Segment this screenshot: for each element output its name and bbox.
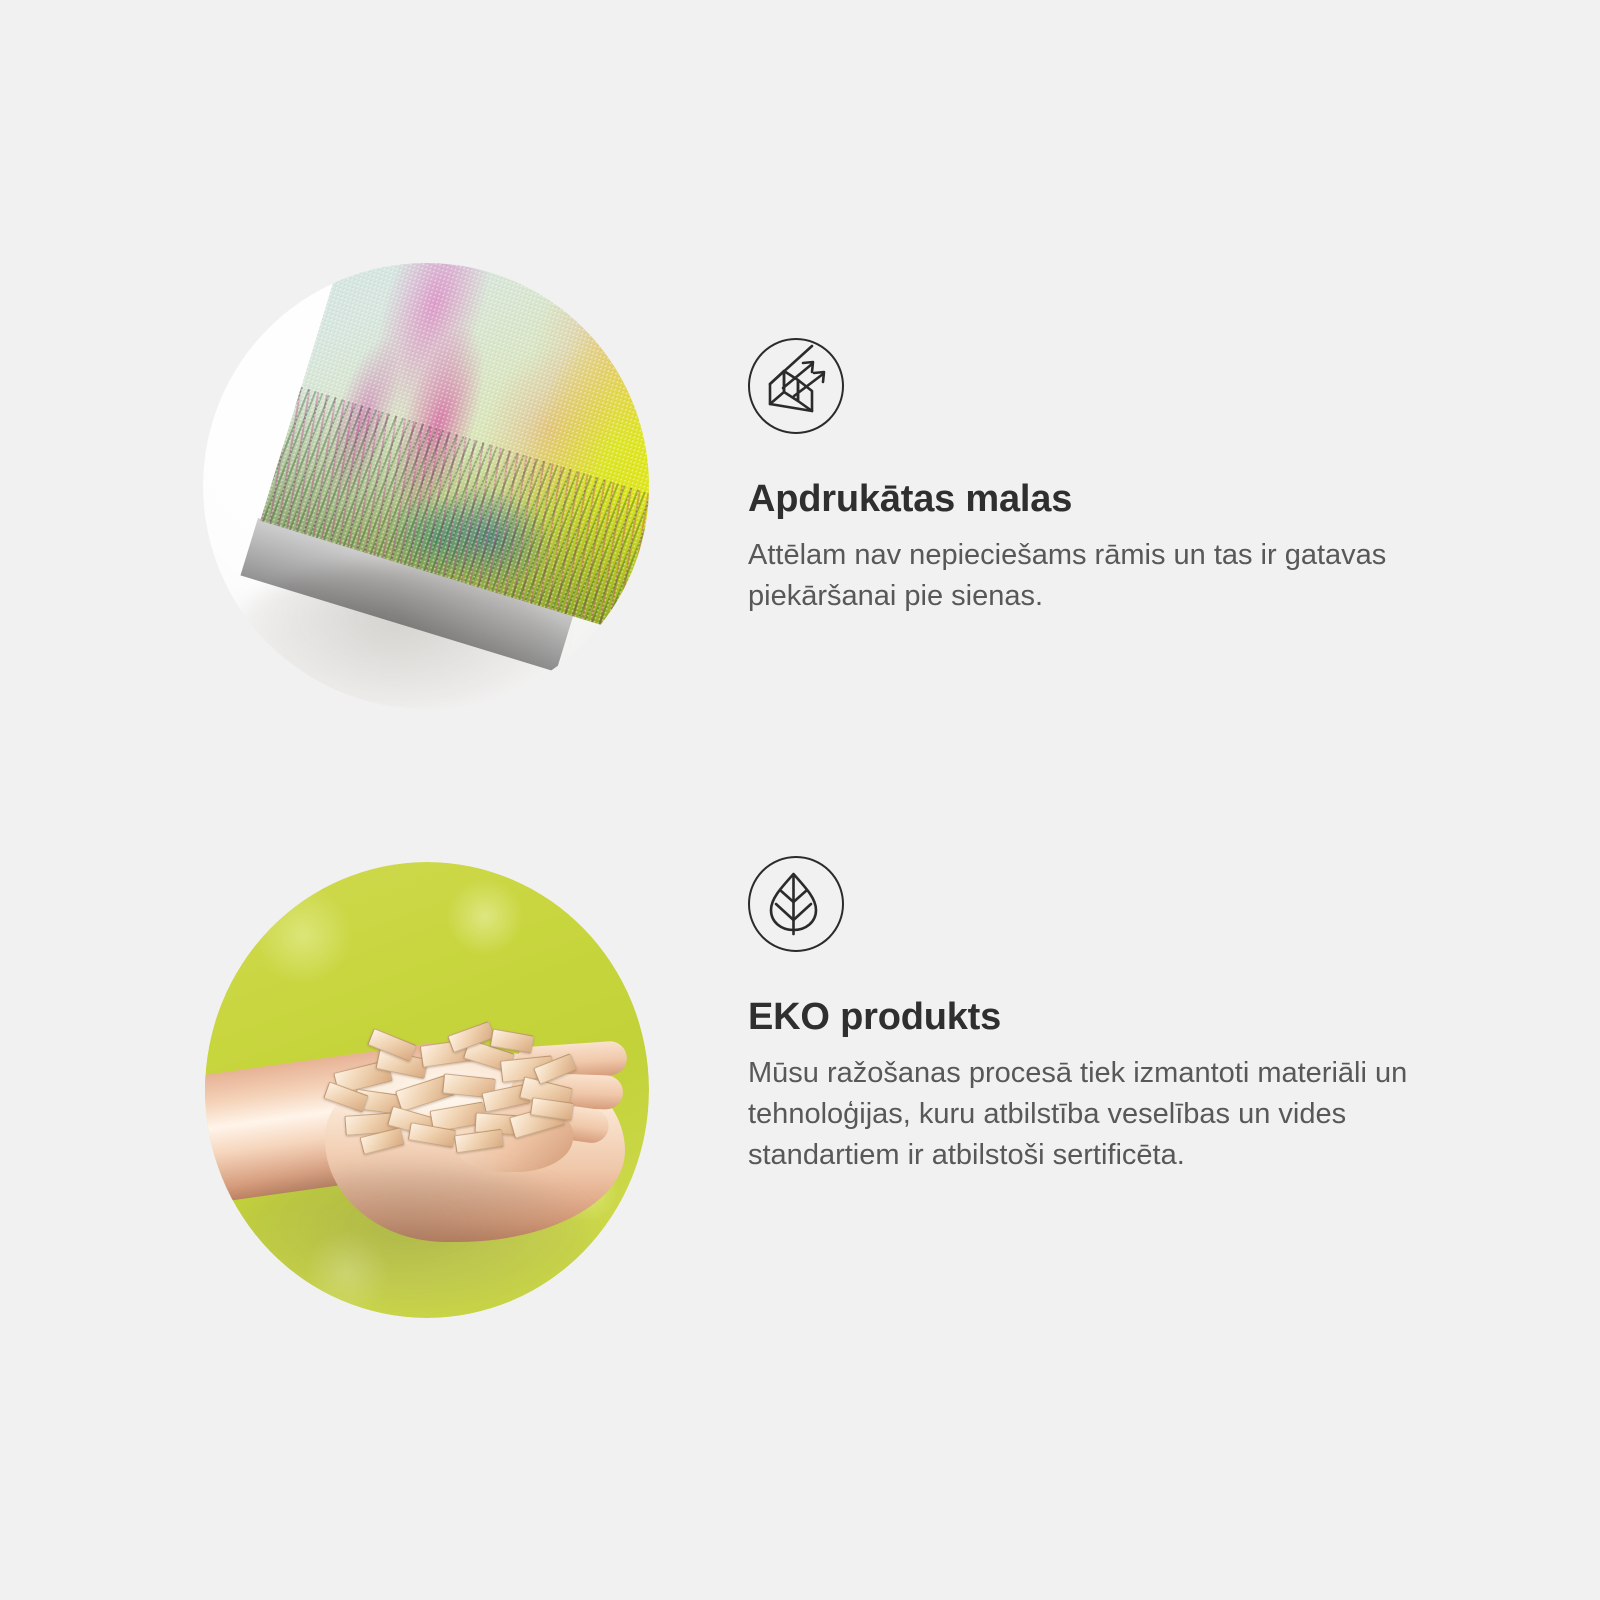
feature-title: Apdrukātas malas xyxy=(748,478,1478,521)
promo-feature-page: Apdrukātas malas Attēlam nav nepieciešam… xyxy=(0,0,1600,1600)
hands-with-wood-chips-photo xyxy=(205,862,649,1318)
canvas-corner-photo xyxy=(203,263,649,709)
canvas-corner-graphic xyxy=(203,263,649,709)
printed-edges-icon xyxy=(748,338,844,434)
feature-description: Mūsu ražošanas procesā tiek izmantoti ma… xyxy=(748,1053,1458,1177)
leaf-icon xyxy=(748,856,844,952)
wood-chip-pile xyxy=(325,1002,615,1162)
feature-printed-edges: Apdrukātas malas Attēlam nav nepieciešam… xyxy=(748,338,1478,617)
feature-eco-product: EKO produkts Mūsu ražošanas procesā tiek… xyxy=(748,856,1478,1176)
feature-description: Attēlam nav nepieciešams rāmis un tas ir… xyxy=(748,535,1458,617)
eco-drop-shadow xyxy=(223,1164,593,1314)
wood-chip xyxy=(454,1129,504,1154)
feature-title: EKO produkts xyxy=(748,996,1478,1039)
